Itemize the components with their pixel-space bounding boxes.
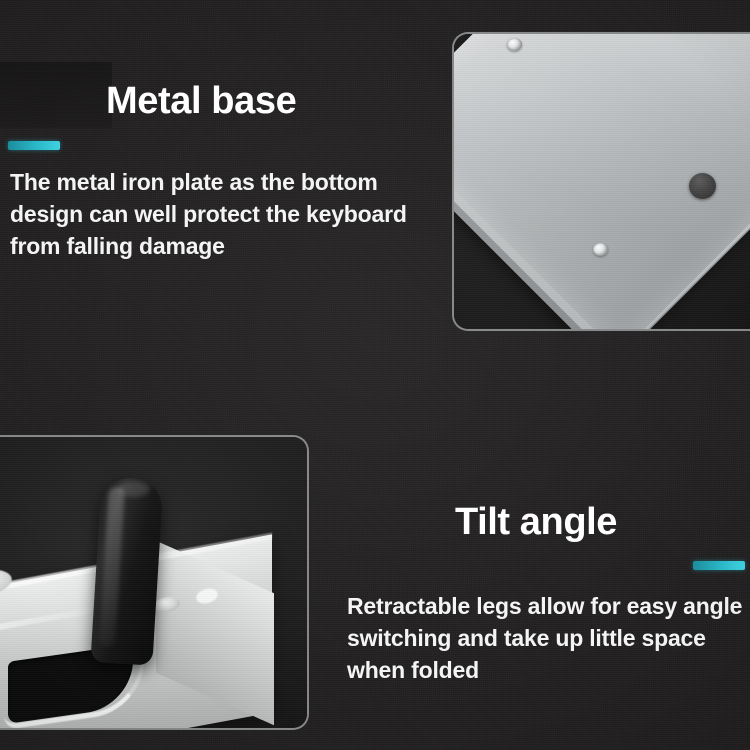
rubber-foot (689, 173, 716, 199)
feature-heading-tilt-angle: Tilt angle (330, 503, 750, 543)
accent-bar-tilt-angle (693, 561, 745, 570)
feature-heading-metal-base: Metal base (106, 82, 450, 122)
feature-block-metal-base: Metal base The metal iron plate as the b… (0, 82, 450, 262)
screw-icon-top (507, 38, 522, 51)
metal-base-photo (452, 32, 750, 331)
screw-icon-bottom (593, 243, 608, 256)
feature-block-tilt-angle: Tilt angle Retractable legs allow for ea… (330, 503, 750, 686)
tilt-angle-photo (0, 435, 309, 730)
feature-body-metal-base: The metal iron plate as the bottom desig… (10, 166, 446, 262)
product-feature-image: Metal base The metal iron plate as the b… (0, 0, 750, 750)
accent-bar-metal-base (8, 141, 60, 150)
retractable-leg-tip-highlight (118, 481, 150, 497)
feature-body-tilt-angle: Retractable legs allow for easy angle sw… (347, 590, 747, 686)
